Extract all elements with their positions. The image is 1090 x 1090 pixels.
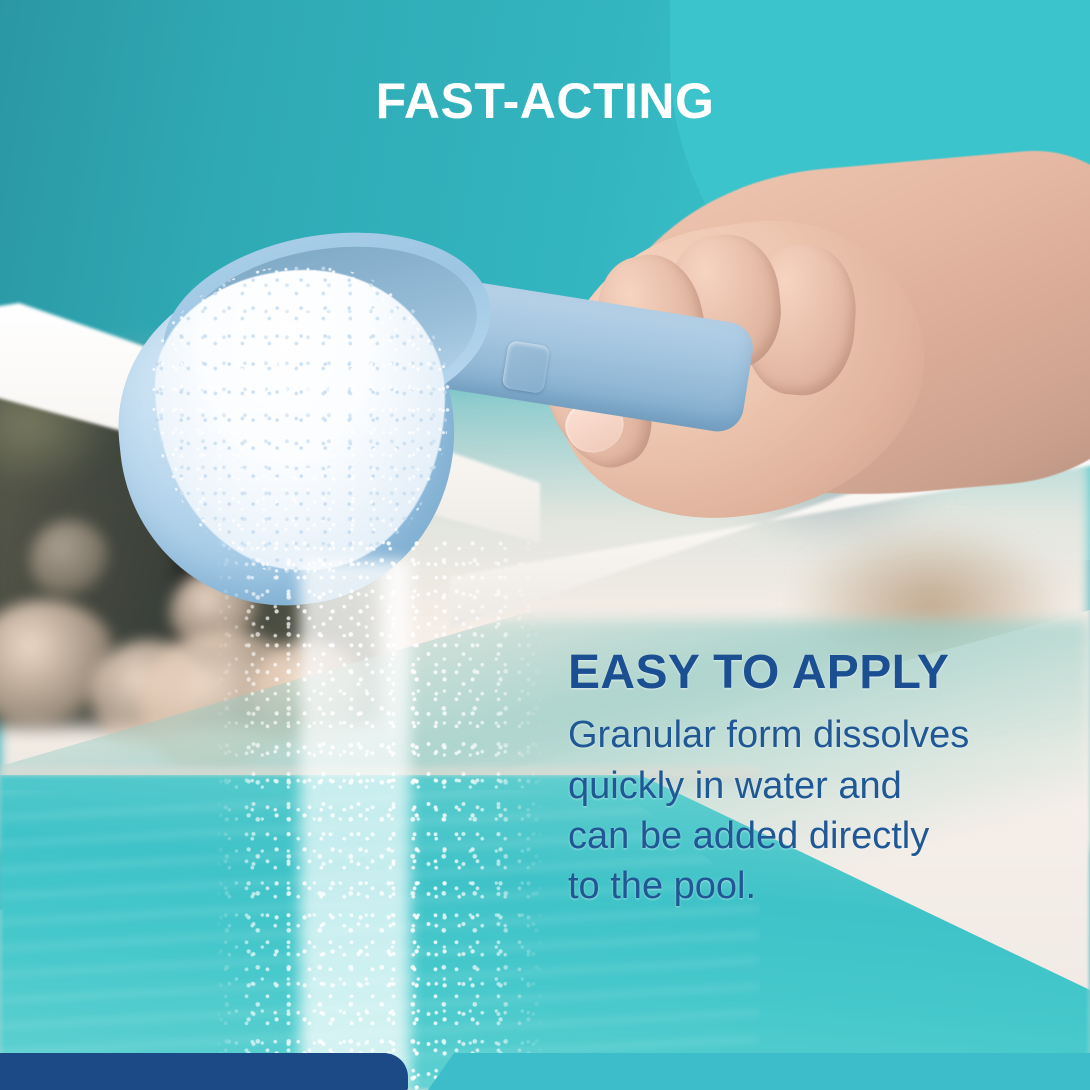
bottom-bar-navy bbox=[0, 1053, 408, 1090]
body-copy-line-2: quickly in water and bbox=[568, 761, 1038, 811]
body-copy-line-4: to the pool. bbox=[568, 861, 1038, 911]
product-photo-scene bbox=[0, 0, 1090, 1090]
headline-fast-acting: FAST-ACTING bbox=[0, 72, 1090, 130]
falling-granule-stream bbox=[215, 540, 545, 1090]
feature-text-block: EASY TO APPLY Granular form dissolves qu… bbox=[568, 648, 1038, 911]
product-feature-card: FAST-ACTING EASY TO APPLY Granular form … bbox=[0, 0, 1090, 1090]
body-copy-line-1: Granular form dissolves bbox=[568, 710, 1038, 760]
bottom-bar-teal bbox=[428, 1053, 1090, 1090]
scoop-handle-nub bbox=[502, 340, 551, 394]
subheadline-easy-to-apply: EASY TO APPLY bbox=[568, 648, 1038, 698]
body-copy: Granular form dissolves quickly in water… bbox=[568, 710, 1038, 911]
body-copy-line-3: can be added directly bbox=[568, 811, 1038, 861]
